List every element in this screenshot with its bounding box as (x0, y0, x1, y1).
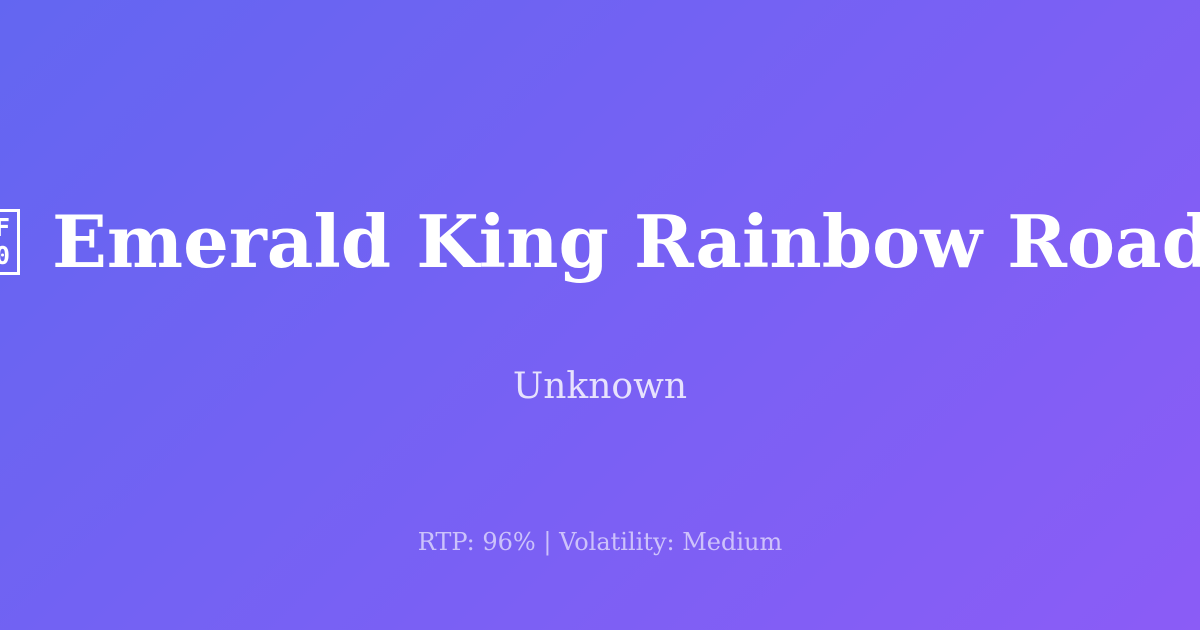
page-title: Emerald King Rainbow Road (52, 204, 1200, 280)
title-line: 1F B0 Emerald King Rainbow Road (0, 204, 1200, 280)
slot-machine-icon: 1F B0 (0, 209, 20, 275)
subtitle: Unknown (0, 363, 1200, 411)
og-share-card: 1F B0 Emerald King Rainbow Road Unknown … (0, 0, 1200, 630)
tofu-codepoint-bottom: B0 (0, 242, 10, 270)
tofu-codepoint-top: 1F (0, 214, 10, 242)
game-stats: RTP: 96% | Volatility: Medium (0, 526, 1200, 558)
